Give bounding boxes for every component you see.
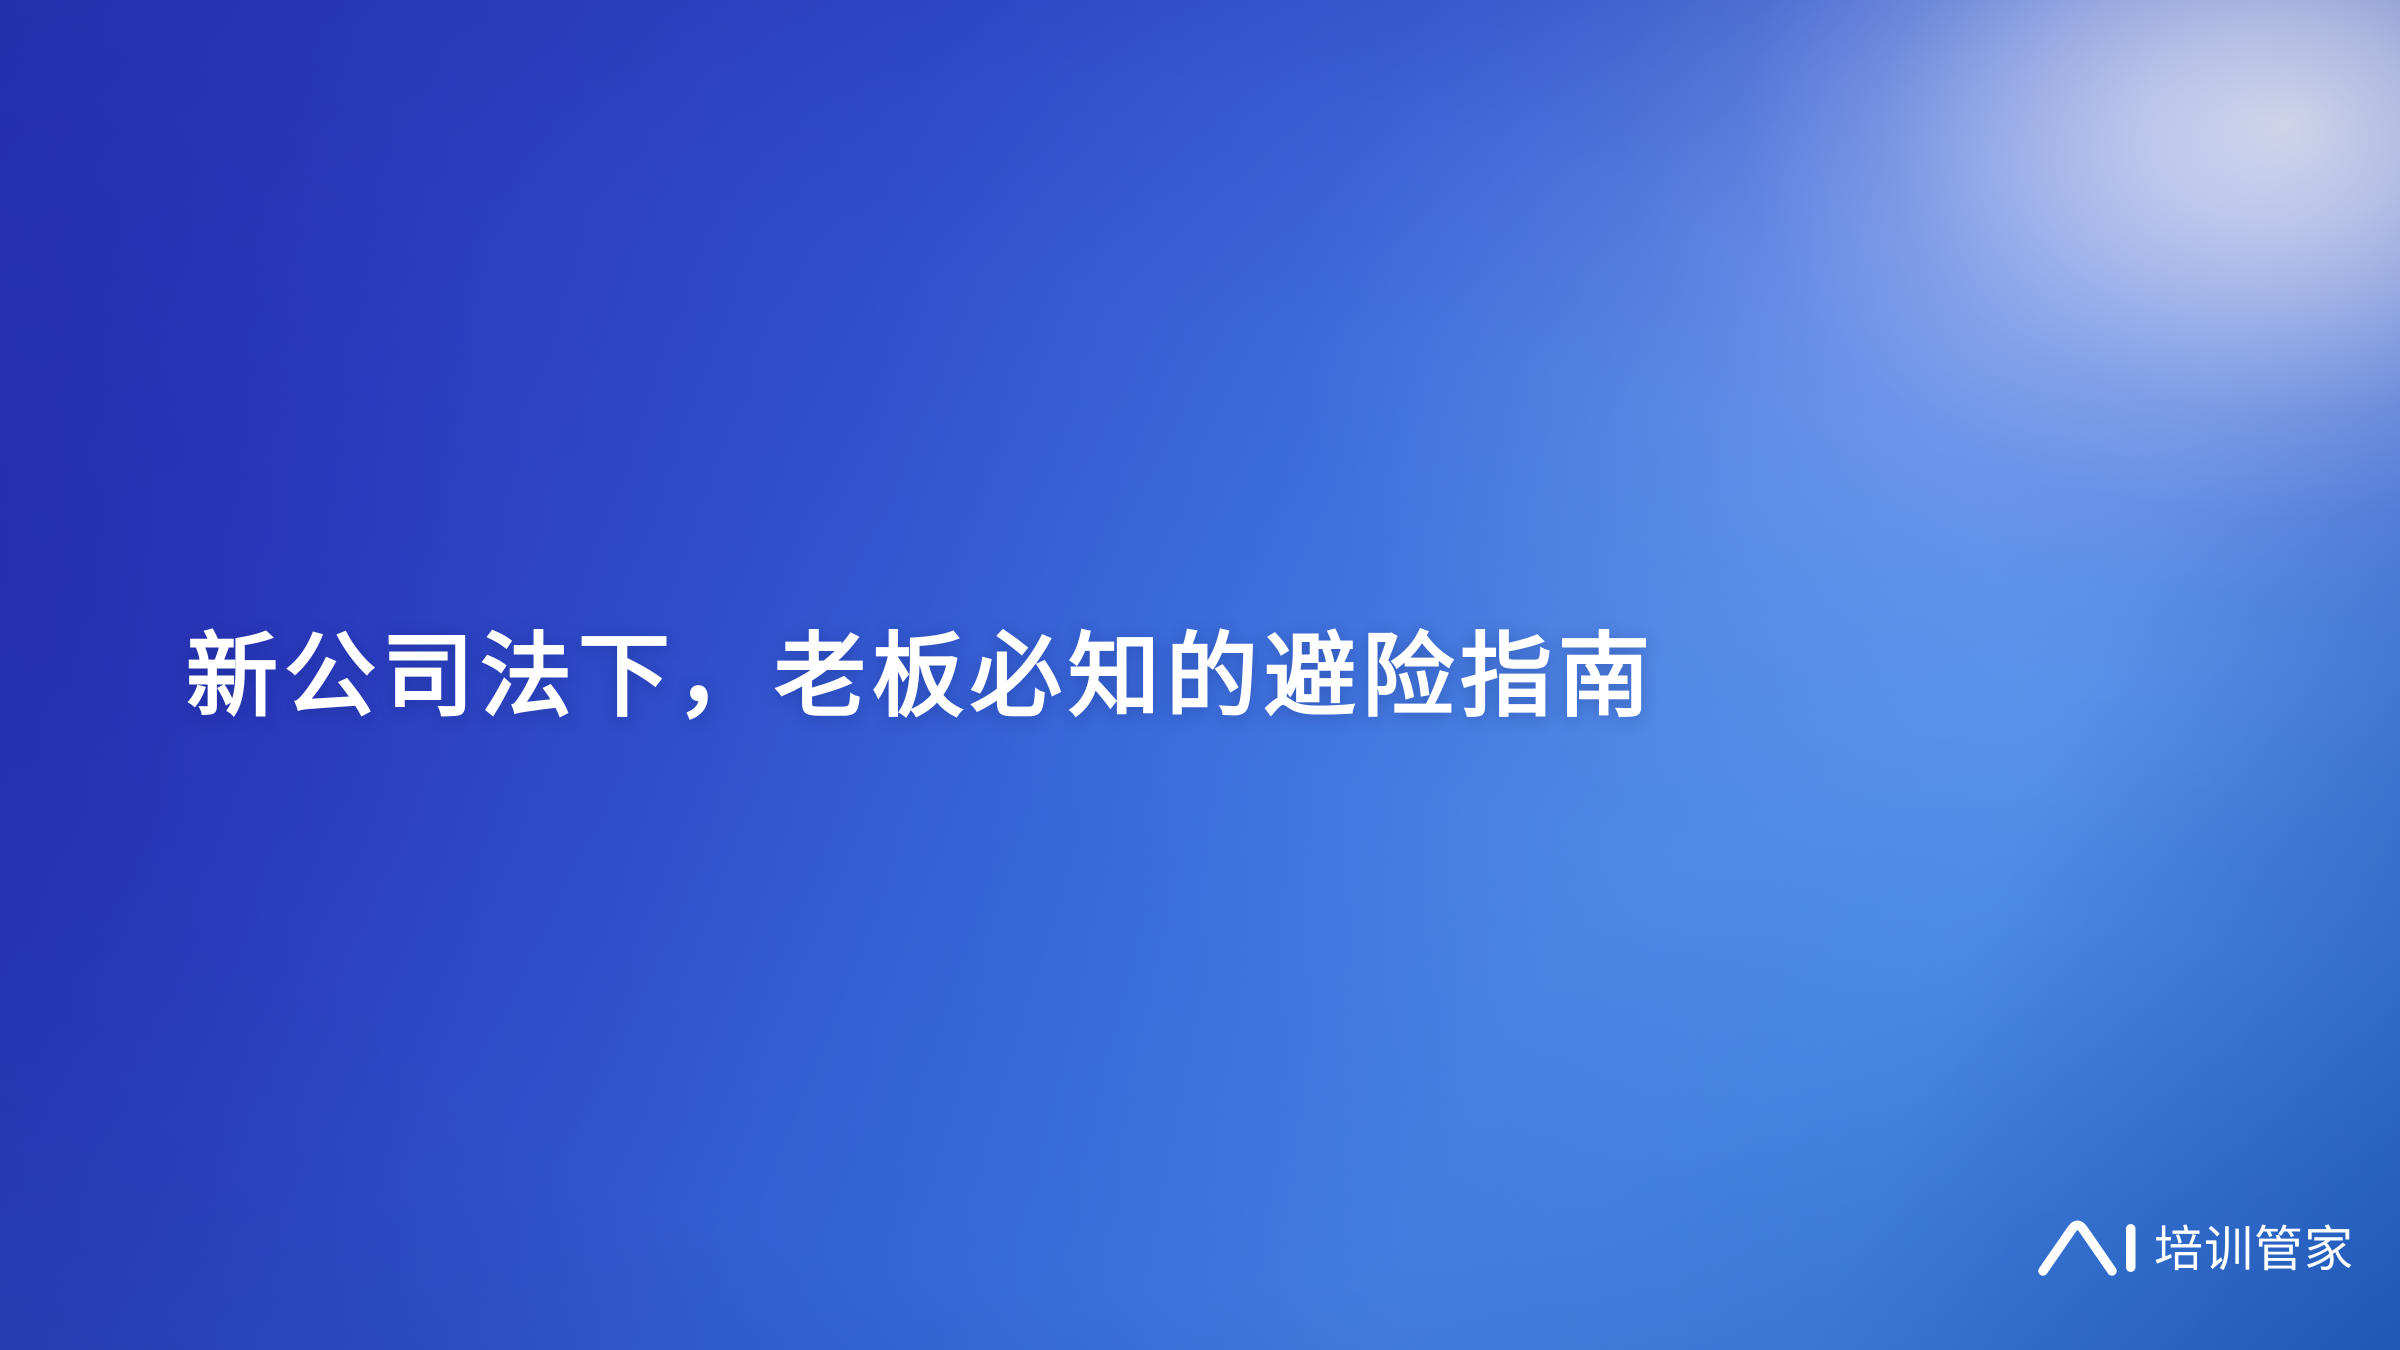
ai-monogram-icon [2036,1220,2141,1278]
slide-headline: 新公司法下，老板必知的避险指南 [186,621,1986,733]
brand-logo: 培训管家 [2036,1211,2354,1287]
brand-name-text: 培训管家 [2154,1226,2354,1275]
slide-canvas: 新公司法下，老板必知的避险指南 培训管家 [0,0,2400,1350]
